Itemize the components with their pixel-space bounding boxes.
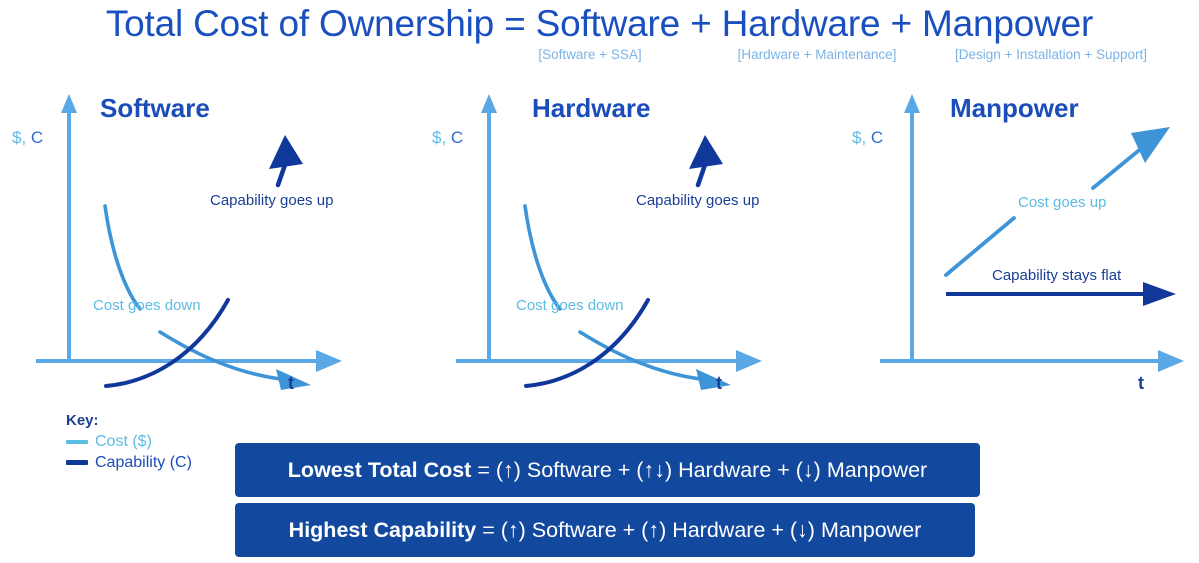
x-axis-arrowhead [316, 350, 342, 372]
y-axis-cost-symbol: $, [432, 128, 446, 147]
cost-curve-upper [105, 206, 140, 309]
legend-item-cost: Cost ($) [66, 431, 226, 452]
legend-item-capability: Capability (C) [66, 452, 226, 473]
y-axis-capability-symbol: C [871, 128, 883, 147]
panel-title-software: Software [100, 93, 210, 124]
cost-annotation-software: Cost goes down [93, 297, 201, 314]
y-axis-cost-symbol: $, [852, 128, 866, 147]
y-axis-arrowhead [481, 94, 497, 113]
y-axis-label-software: $, C [12, 128, 43, 148]
cost-curve-upper [525, 206, 560, 309]
cost-curve-lower [160, 332, 280, 379]
y-axis-arrowhead [61, 94, 77, 113]
cost-curve-lower [580, 332, 700, 379]
capability-flat-arrowhead [1143, 282, 1176, 306]
cost-annotation-hardware: Cost goes down [516, 297, 624, 314]
y-axis-arrowhead [904, 94, 920, 113]
chart-panel-hardware: Hardware $, C t Cost goes down Capabilit… [420, 85, 780, 395]
banner-lowest-total-cost: Lowest Total Cost = (↑) Software + (↑↓) … [235, 443, 980, 497]
banner-highest-capability-lead: Highest Capability [289, 518, 477, 543]
y-axis-capability-symbol: C [31, 128, 43, 147]
x-axis-label-hardware: t [716, 373, 722, 394]
capability-annotation-manpower: Capability stays flat [992, 267, 1121, 284]
cost-line-upper [1093, 147, 1143, 188]
y-axis-label-manpower: $, C [852, 128, 883, 148]
x-axis-arrowhead [1158, 350, 1184, 372]
panel-title-hardware: Hardware [532, 93, 651, 124]
software-chart-svg [0, 85, 360, 395]
hardware-chart-svg [420, 85, 780, 395]
capability-annotation-hardware: Capability goes up [636, 192, 759, 209]
capability-annotation-software: Capability goes up [210, 192, 333, 209]
x-axis-label-software: t [288, 373, 294, 394]
subtitle-manpower: [Design + Installation + Support] [886, 47, 1199, 62]
legend-key: Key: Cost ($) Capability (C) [66, 412, 226, 473]
panel-title-manpower: Manpower [950, 93, 1079, 124]
cost-line-arrowhead [1131, 127, 1170, 163]
y-axis-label-hardware: $, C [432, 128, 463, 148]
page-title: Total Cost of Ownership = Software + Har… [0, 3, 1199, 45]
y-axis-capability-symbol: C [451, 128, 463, 147]
banner-highest-capability: Highest Capability = (↑) Software + (↑) … [235, 503, 975, 557]
legend-label-capability: Capability (C) [95, 454, 192, 472]
legend-label-cost: Cost ($) [95, 433, 152, 451]
x-axis-arrowhead [736, 350, 762, 372]
legend-title: Key: [66, 412, 226, 429]
chart-panel-software: Software $, C t Cost goes down Capabilit… [0, 85, 360, 395]
manpower-chart-svg [840, 85, 1199, 395]
header: Total Cost of Ownership = Software + Har… [0, 0, 1199, 75]
banner-lowest-total-cost-formula: = (↑) Software + (↑↓) Hardware + (↓) Man… [477, 458, 927, 483]
legend-swatch-capability-icon [66, 460, 88, 465]
banner-highest-capability-formula: = (↑) Software + (↑) Hardware + (↓) Manp… [482, 518, 921, 543]
banner-lowest-total-cost-lead: Lowest Total Cost [288, 458, 472, 483]
y-axis-cost-symbol: $, [12, 128, 26, 147]
chart-panel-manpower: Manpower $, C t Cost goes up Capability … [840, 85, 1199, 395]
legend-swatch-cost-icon [66, 440, 88, 444]
cost-annotation-manpower: Cost goes up [1018, 194, 1106, 211]
x-axis-label-manpower: t [1138, 373, 1144, 394]
cost-curve-arrowhead [696, 369, 731, 390]
